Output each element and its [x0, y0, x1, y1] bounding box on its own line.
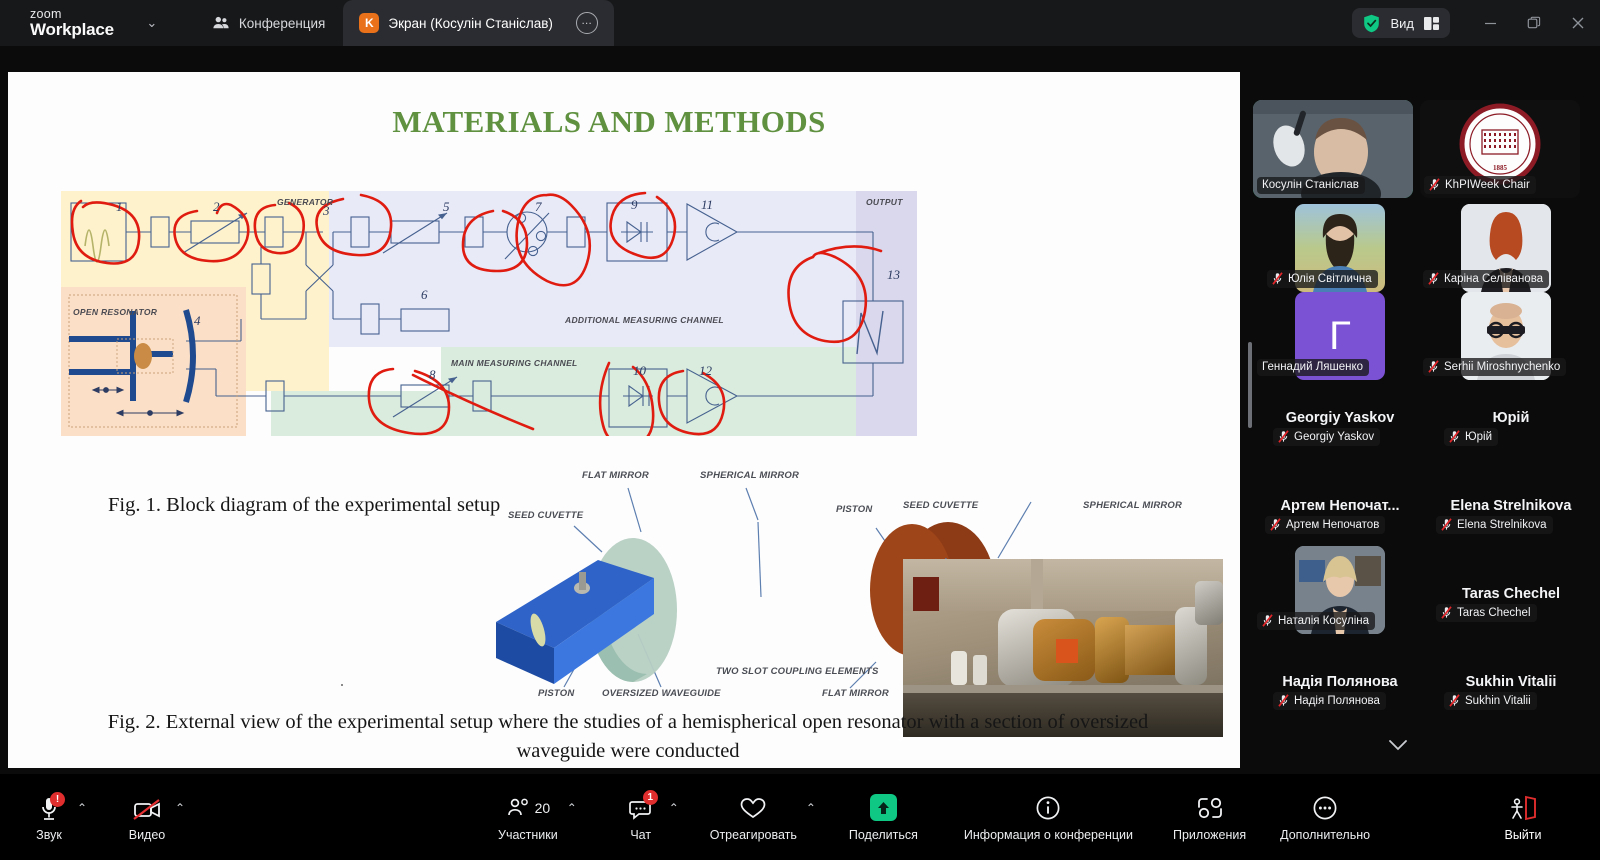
- chevron-down-icon: [1388, 739, 1408, 751]
- participant-tile-14[interactable]: Sukhin Vitalii Sukhin Vitalii: [1426, 634, 1596, 722]
- participant-display-name: Юрій: [1426, 410, 1596, 426]
- arrow-up-icon: [876, 800, 891, 816]
- leave-meeting-icon: [1508, 795, 1538, 821]
- participant-nametag: Косулін Станіслав: [1257, 177, 1365, 194]
- mic-muted-icon: [1429, 178, 1440, 191]
- photo-white-bottle-2: [973, 655, 987, 685]
- meeting-toolbar: ! Звук ⌃ Видео ⌃: [0, 774, 1600, 860]
- zoom-logo: zoom Workplace: [30, 8, 114, 39]
- mic-muted-icon: [1278, 430, 1289, 443]
- video-button[interactable]: Видео: [122, 784, 172, 850]
- close-button[interactable]: [1556, 0, 1600, 46]
- item-number-11: 11: [701, 197, 713, 213]
- label-additional-channel: ADDITIONAL MEASURING CHANNEL: [565, 315, 724, 325]
- participant-nametag: Юлія Світлична: [1267, 270, 1378, 288]
- item-number-4: 4: [194, 313, 201, 329]
- participant-nametag: Elena Strelnikova: [1436, 516, 1553, 534]
- participant-tile-6[interactable]: Serhii Miroshnychenko: [1461, 292, 1551, 380]
- participants-icon: [506, 797, 532, 819]
- mic-muted-icon: [1278, 694, 1289, 707]
- mic-muted-icon: [1270, 518, 1281, 531]
- label-photo-seed-cuvette: SEED CUVETTE: [903, 500, 978, 511]
- label-oversized-waveguide-left: OVERSIZED WAVEGUIDE: [602, 688, 721, 699]
- react-button-label: Отреагировать: [710, 828, 797, 842]
- participant-tile-3[interactable]: Юлія Світлична: [1295, 204, 1385, 292]
- chat-options-caret[interactable]: ⌃: [666, 800, 682, 816]
- label-photo-spherical-mirror: SPHERICAL MIRROR: [1083, 500, 1182, 511]
- item-number-3: 3: [323, 203, 330, 219]
- leave-meeting-button[interactable]: Выйти: [1498, 784, 1548, 850]
- label-open-resonator: OPEN RESONATOR: [73, 307, 157, 317]
- participants-count: 20: [535, 800, 551, 816]
- view-button-label: Вид: [1390, 16, 1414, 31]
- share-screen-button-label: Поделиться: [849, 828, 918, 842]
- participant-filmstrip: Косулін Станіслав: [1248, 46, 1600, 774]
- audio-options-caret[interactable]: ⌃: [74, 800, 90, 816]
- label-spherical-mirror: SPHERICAL MIRROR: [700, 470, 799, 481]
- slide-title: MATERIALS AND METHODS: [8, 104, 1240, 140]
- chat-button[interactable]: 1 Чат: [616, 784, 666, 850]
- label-output: OUTPUT: [866, 197, 903, 207]
- participant-name: Артем Непочатов: [1286, 519, 1379, 531]
- mic-muted-icon: [1272, 272, 1283, 285]
- meeting-info-button-label: Информация о конференции: [964, 828, 1133, 842]
- participant-name: Taras Chechel: [1457, 607, 1531, 619]
- figure-1-caption: Fig. 1. Block diagram of the experimenta…: [108, 494, 500, 517]
- mic-muted-icon: [1449, 430, 1460, 443]
- mic-muted-icon: [1441, 518, 1452, 531]
- share-screen-button[interactable]: Поделиться: [843, 784, 924, 850]
- photo-wall: [903, 559, 1223, 611]
- label-seed-cuvette: SEED CUVETTE: [508, 510, 583, 521]
- label-flat-mirror: FLAT MIRROR: [582, 470, 649, 481]
- meeting-info-button[interactable]: Информация о конференции: [958, 784, 1139, 850]
- apps-icon: [1196, 796, 1224, 820]
- participant-name: Наталія Косуліна: [1278, 615, 1369, 627]
- participant-nametag: Наталія Косуліна: [1257, 612, 1375, 630]
- participant-display-name: Georgiy Yaskov: [1255, 410, 1425, 426]
- apps-button-label: Приложения: [1173, 828, 1246, 842]
- shared-slide: MATERIALS AND METHODS: [8, 72, 1240, 768]
- green-shield-icon: [1363, 14, 1380, 33]
- more-horizontal-icon[interactable]: …: [576, 12, 598, 34]
- restore-icon: [1527, 16, 1541, 30]
- participant-name: Юрій: [1465, 431, 1492, 443]
- participant-name: KhPIWeek Chair: [1445, 179, 1530, 191]
- label-two-slot-coupling-elements: TWO SLOT COUPLING ELEMENTS: [716, 666, 878, 677]
- minimize-icon: [1484, 17, 1497, 30]
- figure-1-block-diagram: GENERATOR OPEN RESONATOR ADDITIONAL MEAS…: [61, 191, 917, 436]
- participant-nametag: KhPIWeek Chair: [1424, 176, 1536, 194]
- more-button-label: Дополнительно: [1280, 828, 1370, 842]
- brand-workplace: Workplace: [30, 21, 114, 39]
- participant-tile-2[interactable]: 1885 KhPIWeek Chair: [1420, 100, 1580, 198]
- share-tab-avatar: K: [359, 13, 379, 33]
- mic-muted-icon: [1428, 272, 1439, 285]
- more-horizontal-icon: [1312, 795, 1338, 821]
- item-number-9: 9: [631, 197, 638, 213]
- tab-shared-screen-label: Экран (Косулін Станіслав): [388, 16, 553, 31]
- brand-dropdown-caret[interactable]: ⌄: [140, 11, 164, 35]
- svg-text:1885: 1885: [1493, 164, 1508, 172]
- label-piston-bottom: PISTON: [538, 688, 574, 699]
- figure-1-schematic: [61, 191, 917, 436]
- video-options-caret[interactable]: ⌃: [172, 800, 188, 816]
- heart-icon: [739, 796, 767, 820]
- label-main-channel: MAIN MEASURING CHANNEL: [451, 358, 578, 368]
- participant-nametag: Taras Chechel: [1436, 604, 1537, 622]
- tab-meeting-label: Конференция: [239, 16, 326, 31]
- titlebar-right-controls: Вид: [1352, 0, 1600, 46]
- video-button-label: Видео: [129, 828, 166, 842]
- camera-off-icon: [132, 797, 162, 823]
- participant-nametag: Артем Непочатов: [1265, 516, 1385, 534]
- item-number-10: 10: [633, 363, 646, 379]
- photo-orange-window: [1056, 639, 1078, 663]
- minimize-button[interactable]: [1468, 0, 1512, 46]
- participants-icon: [212, 14, 230, 32]
- more-button[interactable]: Дополнительно: [1274, 784, 1376, 850]
- layout-icon: [1424, 17, 1439, 30]
- audio-alert-badge: !: [50, 792, 65, 807]
- participant-tile-5[interactable]: Г Геннадий Ляшенко: [1295, 292, 1385, 380]
- item-number-7: 7: [535, 199, 542, 215]
- tab-meeting[interactable]: Конференция: [194, 0, 344, 46]
- item-number-5: 5: [443, 199, 450, 215]
- participant-tile-9[interactable]: Артем Непочат... Артем Непочатов: [1255, 458, 1425, 546]
- participant-name: Косулін Станіслав: [1262, 179, 1359, 191]
- window-titlebar: zoom Workplace ⌄ Конференция K Экран (Ко…: [0, 0, 1600, 46]
- item-number-13: 13: [887, 267, 900, 283]
- participant-display-name: Taras Chechel: [1426, 586, 1596, 602]
- mic-muted-icon: [1262, 614, 1273, 627]
- participant-tile-7[interactable]: Georgiy Yaskov Georgiy Yaskov: [1255, 370, 1425, 458]
- participant-tile-10[interactable]: Elena Strelnikova Elena Strelnikova: [1426, 458, 1596, 546]
- react-options-caret[interactable]: ⌃: [803, 800, 819, 816]
- participant-tile-1[interactable]: Косулін Станіслав: [1253, 100, 1413, 198]
- apps-button[interactable]: Приложения: [1167, 784, 1252, 850]
- participant-name: Georgiy Yaskov: [1294, 431, 1374, 443]
- participant-nametag: Georgiy Yaskov: [1273, 428, 1380, 446]
- participant-name: Юлія Світлична: [1288, 273, 1372, 285]
- participant-tile-11[interactable]: Наталія Косуліна: [1295, 546, 1385, 634]
- item-number-1: 1: [116, 199, 123, 215]
- participants-button-label: Участники: [498, 828, 558, 842]
- participant-tile-4[interactable]: Каріна Селіванова: [1461, 204, 1551, 292]
- photo-red-panel: [913, 577, 939, 611]
- photo-fixture: [1195, 581, 1223, 625]
- chat-unread-badge: 1: [643, 790, 658, 805]
- info-icon: [1035, 795, 1061, 821]
- vertical-scrollbar[interactable]: [1248, 342, 1252, 428]
- participant-display-name: Артем Непочат...: [1255, 498, 1425, 514]
- participant-nametag: Каріна Селіванова: [1423, 270, 1549, 288]
- item-number-6: 6: [421, 287, 428, 303]
- participant-nametag: Юрій: [1444, 428, 1498, 446]
- participant-tile-12[interactable]: Taras Chechel Taras Chechel: [1426, 546, 1596, 634]
- participant-name: Elena Strelnikova: [1457, 519, 1547, 531]
- participant-name: Sukhin Vitalii: [1465, 695, 1531, 707]
- maximize-button[interactable]: [1512, 0, 1556, 46]
- figure-2-external-view: FLAT MIRROR SPHERICAL MIRROR PISTON SEED…: [478, 462, 1238, 702]
- item-number-12: 12: [699, 363, 712, 379]
- figure-2-caption: Fig. 2. External view of the experimenta…: [78, 708, 1178, 766]
- filmstrip-next-page-button[interactable]: [1366, 728, 1430, 762]
- zoom-meeting-window: zoom Workplace ⌄ Конференция K Экран (Ко…: [0, 0, 1600, 860]
- participant-display-name: Надія Полянова: [1255, 674, 1425, 690]
- participant-tile-8[interactable]: Юрій Юрій: [1426, 370, 1596, 458]
- photo-brass-mirror: [1095, 617, 1129, 683]
- participant-name: Каріна Селіванова: [1444, 273, 1543, 285]
- react-button[interactable]: Отреагировать: [704, 784, 803, 850]
- close-icon: [1571, 16, 1585, 30]
- item-number-2: 2: [213, 199, 220, 215]
- label-photo-flat-mirror: FLAT MIRROR: [822, 688, 889, 699]
- participant-name: Надія Полянова: [1294, 695, 1380, 707]
- participant-nametag: Надія Полянова: [1273, 692, 1386, 710]
- audio-button[interactable]: ! Звук: [24, 784, 74, 850]
- photo-bench-rail: [903, 685, 1223, 693]
- participant-display-name: Sukhin Vitalii: [1426, 674, 1596, 690]
- brand-zoom: zoom: [30, 8, 114, 21]
- participant-display-name: Elena Strelnikova: [1426, 498, 1596, 514]
- participant-tile-13[interactable]: Надія Полянова Надія Полянова: [1255, 634, 1425, 722]
- participants-options-caret[interactable]: ⌃: [564, 800, 580, 816]
- audio-button-label: Звук: [36, 828, 62, 842]
- participants-button[interactable]: 20 Участники: [492, 784, 564, 850]
- stray-ink-dot: [341, 684, 343, 686]
- item-number-8: 8: [429, 367, 436, 383]
- view-button[interactable]: Вид: [1352, 8, 1450, 38]
- mic-muted-icon: [1441, 606, 1452, 619]
- leave-meeting-button-label: Выйти: [1504, 828, 1541, 842]
- label-piston-right: PISTON: [836, 504, 872, 515]
- photo-white-bottle: [951, 651, 967, 685]
- tab-shared-screen[interactable]: K Экран (Косулін Станіслав) …: [343, 0, 614, 46]
- chat-button-label: Чат: [630, 828, 651, 842]
- mic-muted-icon: [1449, 694, 1460, 707]
- participant-nametag: Sukhin Vitalii: [1444, 692, 1537, 710]
- share-screen-icon: [870, 794, 897, 821]
